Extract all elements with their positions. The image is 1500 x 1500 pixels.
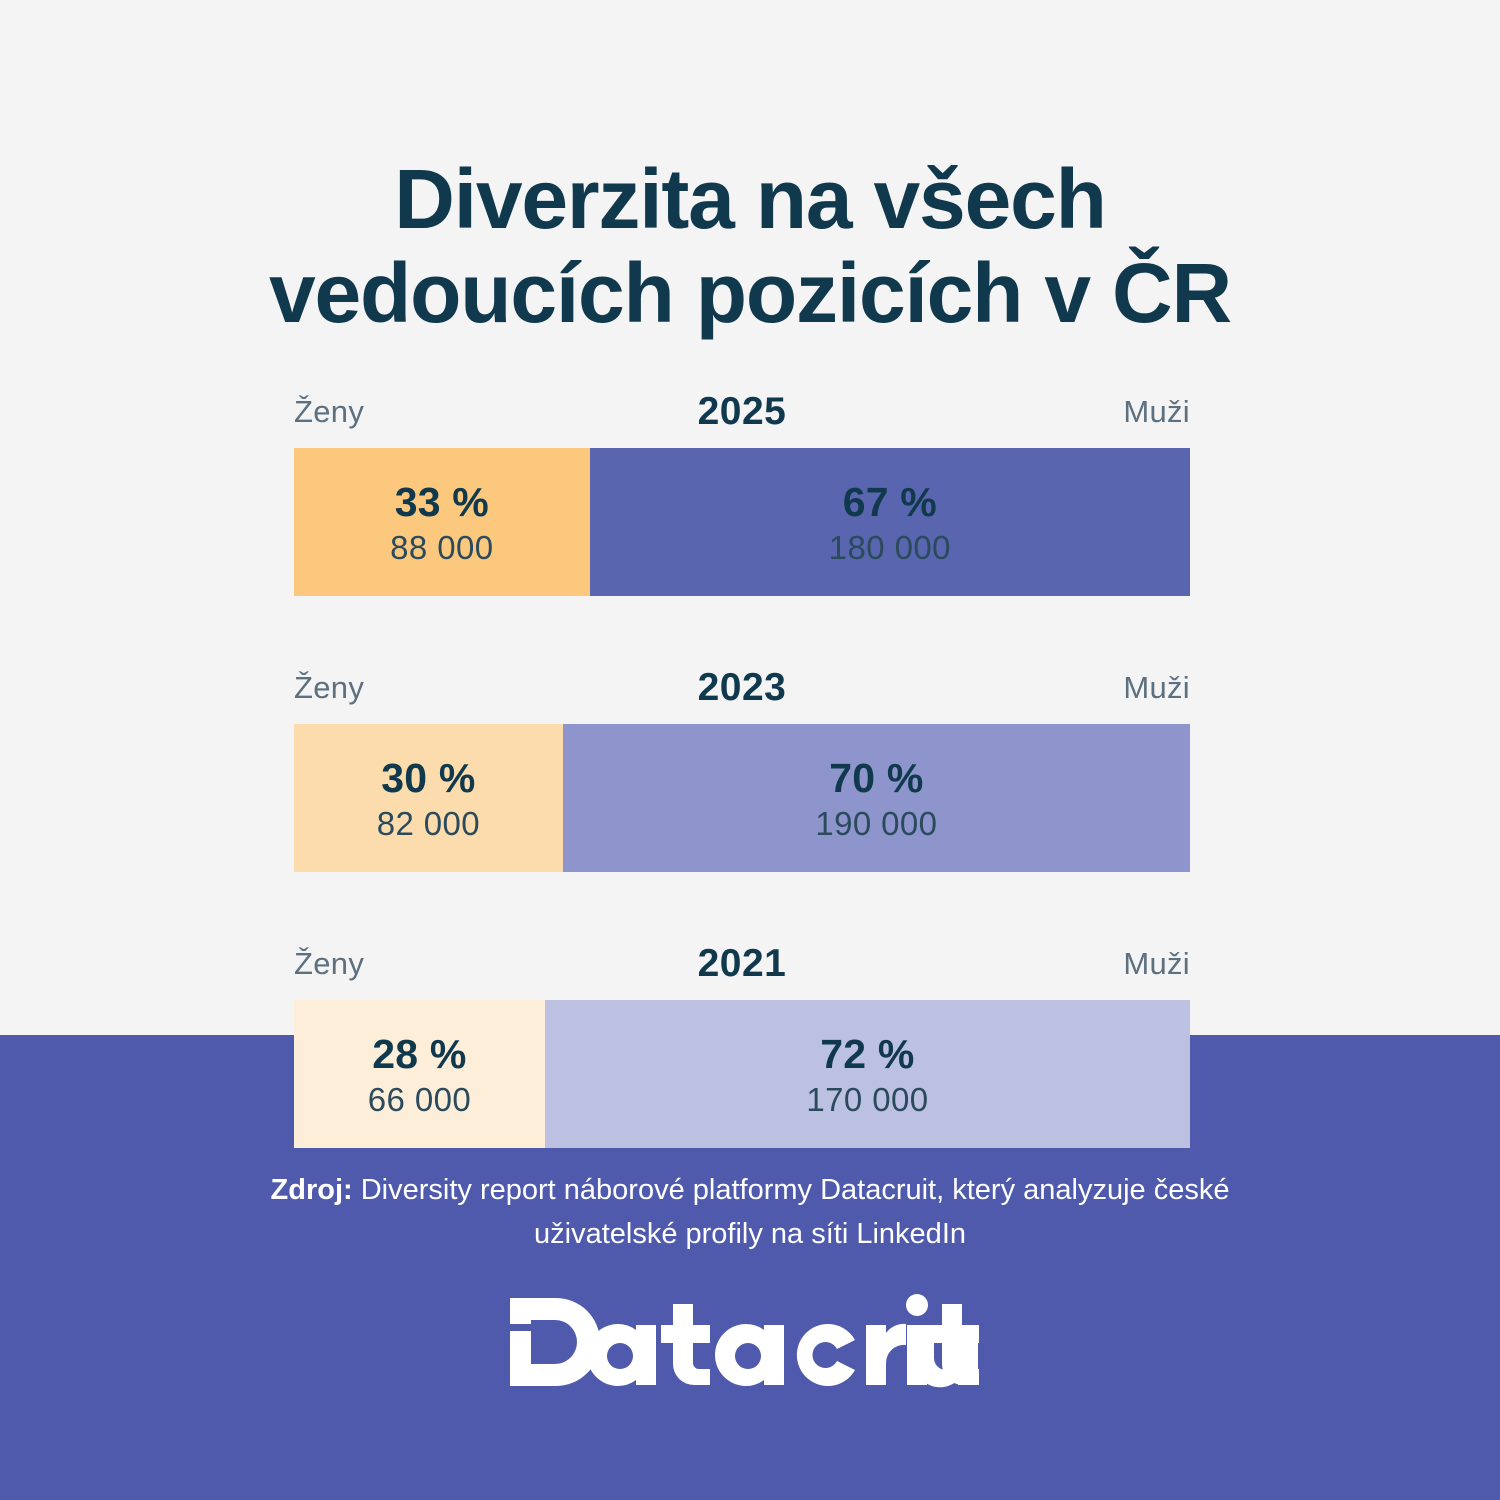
segment-count: 82 000 [377, 803, 480, 846]
bar-segment-men: 67 % 180 000 [590, 448, 1190, 596]
segment-percent: 30 % [381, 754, 475, 802]
bar-segment-men: 72 % 170 000 [545, 1000, 1190, 1148]
chart-group-2025: Ženy 2025 Muži 33 % 88 000 67 % 180 000 [294, 390, 1190, 596]
stacked-bar: 30 % 82 000 70 % 190 000 [294, 724, 1190, 872]
segment-count: 170 000 [806, 1079, 928, 1122]
legend-label-men: Muži [1123, 670, 1190, 706]
chart-group-labels: Ženy 2025 Muži [294, 390, 1190, 448]
segment-percent: 33 % [395, 478, 489, 526]
bar-segment-women: 30 % 82 000 [294, 724, 563, 872]
datacruit-logo [0, 1290, 1500, 1394]
stacked-bar: 28 % 66 000 72 % 170 000 [294, 1000, 1190, 1148]
datacruit-wordmark-icon [510, 1290, 990, 1394]
chart-group-labels: Ženy 2021 Muži [294, 942, 1190, 1000]
page-title: Diverzita na všech vedoucích pozicích v … [0, 152, 1500, 340]
segment-percent: 67 % [843, 478, 937, 526]
segment-count: 190 000 [815, 803, 937, 846]
legend-label-men: Muži [1123, 946, 1190, 982]
segment-count: 88 000 [390, 527, 493, 570]
page-title-line-2: vedoucích pozicích v ČR [0, 246, 1500, 340]
page-title-line-1: Diverzita na všech [0, 152, 1500, 246]
legend-label-men: Muži [1123, 394, 1190, 430]
segment-count: 180 000 [829, 527, 951, 570]
chart-group-2021: Ženy 2021 Muži 28 % 66 000 72 % 170 000 [294, 942, 1190, 1148]
diversity-chart: Ženy 2025 Muži 33 % 88 000 67 % 180 000 … [294, 390, 1190, 1148]
chart-group-2023: Ženy 2023 Muži 30 % 82 000 70 % 190 000 [294, 666, 1190, 872]
segment-percent: 70 % [829, 754, 923, 802]
year-label: 2023 [294, 666, 1190, 710]
bar-segment-women: 33 % 88 000 [294, 448, 590, 596]
stacked-bar: 33 % 88 000 67 % 180 000 [294, 448, 1190, 596]
bar-segment-men: 70 % 190 000 [563, 724, 1190, 872]
bar-segment-women: 28 % 66 000 [294, 1000, 545, 1148]
source-note-prefix: Zdroj: [271, 1174, 353, 1206]
infographic-root: Diverzita na všech vedoucích pozicích v … [0, 0, 1500, 1500]
year-label: 2025 [294, 390, 1190, 434]
segment-count: 66 000 [368, 1079, 471, 1122]
segment-percent: 28 % [372, 1030, 466, 1078]
chart-group-labels: Ženy 2023 Muži [294, 666, 1190, 724]
year-label: 2021 [294, 942, 1190, 986]
segment-percent: 72 % [820, 1030, 914, 1078]
source-note-text: Diversity report náborové platformy Data… [353, 1174, 1230, 1250]
source-note: Zdroj: Diversity report náborové platfor… [250, 1169, 1250, 1256]
